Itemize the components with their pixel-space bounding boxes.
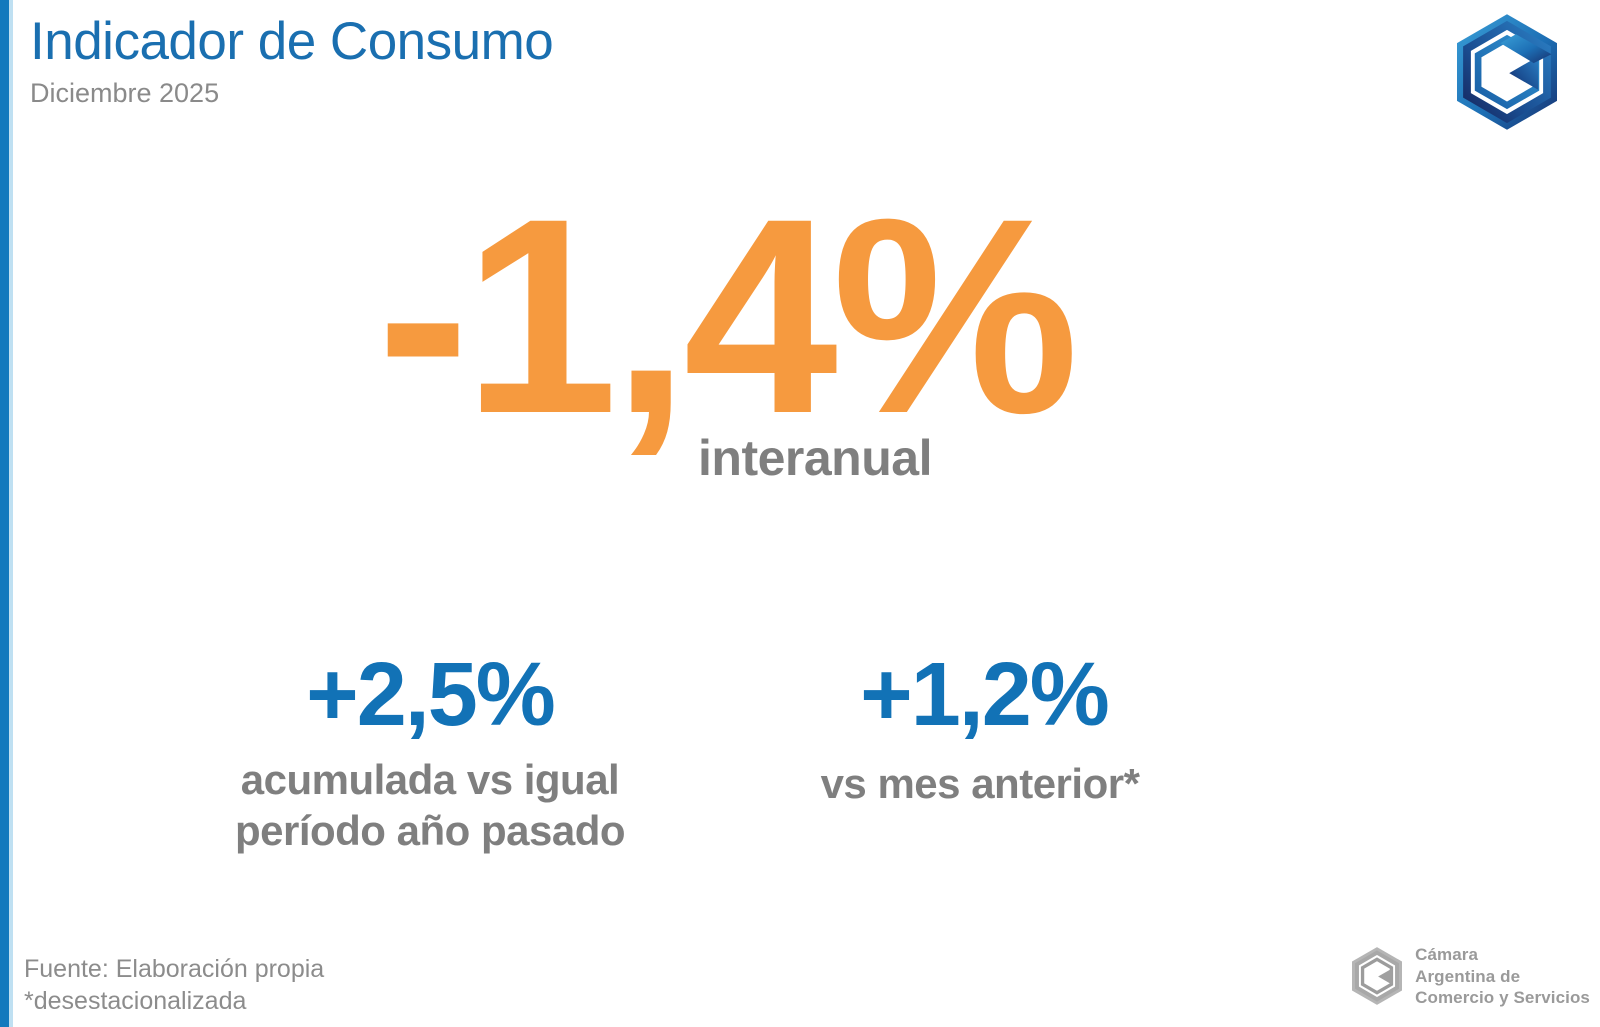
stat-month-over-month: +1,2% vs mes anterior* (710, 650, 1250, 809)
slide-root: Indicador de Consumo Diciembre 2025 (0, 0, 1600, 1027)
cac-hexagon-logo-icon (1447, 12, 1567, 132)
hero-value: -1,4% (0, 196, 1600, 435)
left-accent-bar (0, 0, 9, 1027)
brand-text-line1: Cámara (1415, 944, 1590, 966)
stat-accumulated-caption-line1: acumulada vs igual (241, 756, 619, 803)
stat-accumulated: +2,5% acumulada vs igual período año pas… (150, 650, 710, 856)
brand-text-line2: Argentina de (1415, 966, 1590, 988)
stat-month-value: +1,2% (718, 650, 1250, 740)
left-accent-bar-light (9, 0, 13, 1027)
secondary-stats: +2,5% acumulada vs igual período año pas… (150, 650, 1330, 856)
header: Indicador de Consumo Diciembre 2025 (30, 14, 553, 109)
cac-hexagon-logo-grey-icon (1349, 946, 1405, 1006)
brand-text-line3: Comercio y Servicios (1415, 987, 1590, 1009)
source-line-1: Fuente: Elaboración propia (24, 953, 324, 985)
stat-accumulated-caption-line2: período año pasado (235, 807, 625, 854)
page-subtitle: Diciembre 2025 (30, 78, 553, 109)
source-note: Fuente: Elaboración propia *desestaciona… (24, 953, 324, 1017)
hero-metric: -1,4% interanual (0, 196, 1600, 487)
stat-accumulated-value: +2,5% (150, 650, 710, 740)
hero-label: interanual (30, 429, 1600, 487)
brand-lockup: Cámara Argentina de Comercio y Servicios (1349, 944, 1590, 1009)
stat-month-caption: vs mes anterior* (710, 758, 1250, 809)
brand-text: Cámara Argentina de Comercio y Servicios (1415, 944, 1590, 1009)
stat-accumulated-caption: acumulada vs igual período año pasado (150, 754, 710, 856)
page-title: Indicador de Consumo (30, 14, 553, 70)
source-line-2: *desestacionalizada (24, 985, 324, 1017)
